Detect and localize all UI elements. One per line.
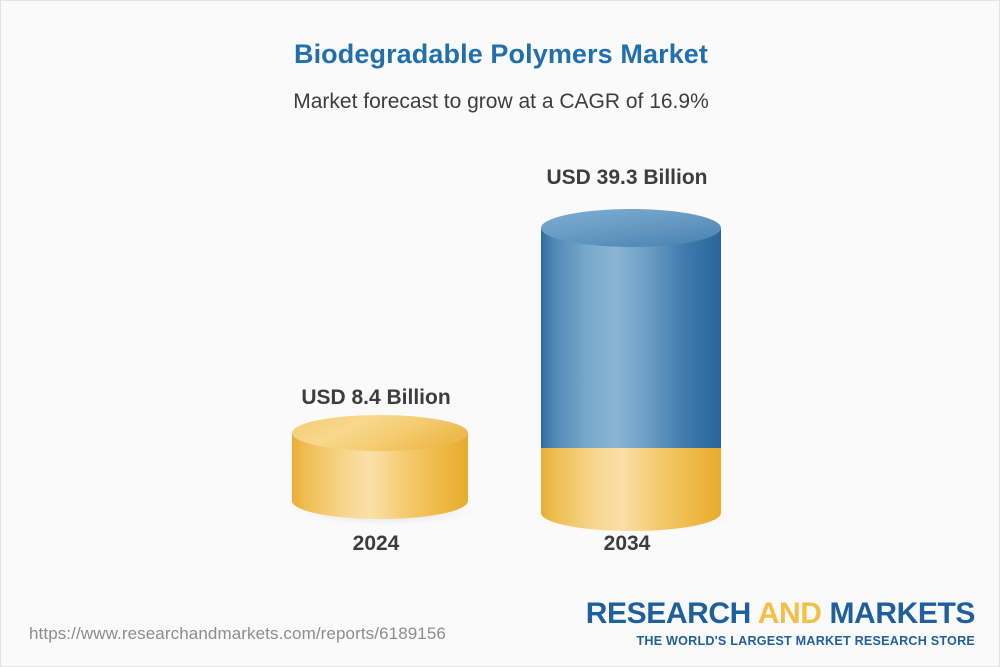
research-and-markets-logo[interactable]: RESEARCH AND MARKETS THE WORLD'S LARGEST… [586,599,975,648]
bar-body-2034 [541,228,721,448]
plot-area: USD 8.4 Billion USD 39.3 Billion [1,1,1000,601]
bar-top-2024 [292,415,468,451]
bar-cylinder-2024 [282,413,482,533]
logo-word-and: AND [751,597,830,630]
bar-top-2034 [541,209,721,247]
chart-canvas: Biodegradable Polymers Market Market for… [0,0,1000,667]
logo-word-research: RESEARCH [586,597,751,630]
bar-base-segment-2034 [541,448,721,531]
value-label-2024: USD 8.4 Billion [251,386,501,410]
logo-wordmark: RESEARCH AND MARKETS [586,599,975,629]
category-label-2034: 2034 [502,532,752,556]
bar-cylinder-2034 [531,199,736,539]
logo-tagline: THE WORLD'S LARGEST MARKET RESEARCH STOR… [586,635,975,648]
report-url[interactable]: https://www.researchandmarkets.com/repor… [29,624,446,644]
category-label-2024: 2024 [251,532,501,556]
logo-word-markets: MARKETS [829,597,975,630]
value-label-2034: USD 39.3 Billion [502,166,752,190]
